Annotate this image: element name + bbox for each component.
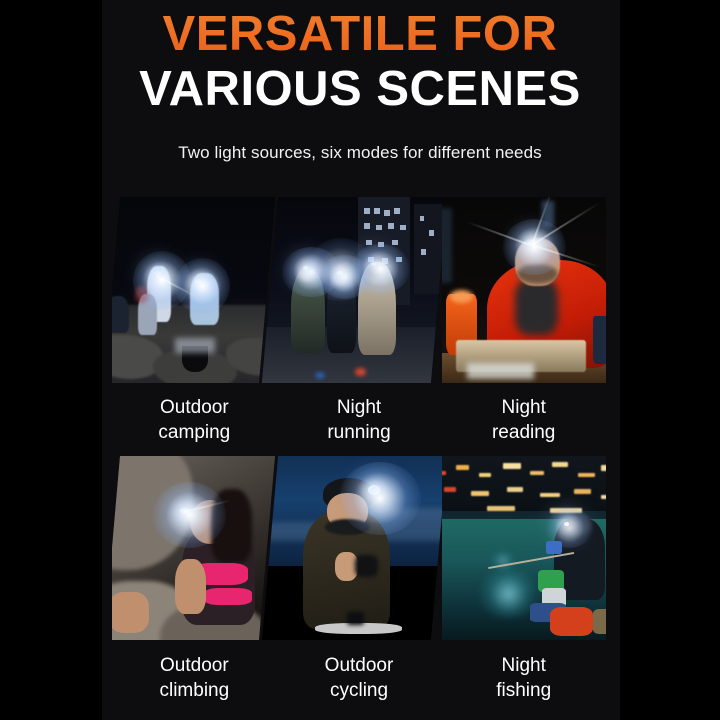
caption-line-1: Night — [502, 655, 546, 676]
caption-line-2: running — [277, 420, 442, 445]
caption-outdoor-climbing: Outdoor climbing — [112, 653, 277, 703]
scene-image-outdoor-climbing — [112, 456, 275, 640]
scene-image-night-reading — [442, 197, 606, 383]
headline-primary: VERSATILE FOR — [0, 0, 720, 59]
caption-line-1: Night — [502, 397, 546, 418]
caption-line-2: reading — [441, 420, 606, 445]
caption-line-2: climbing — [112, 678, 277, 703]
scene-tile-outdoor-cycling[interactable] — [262, 456, 447, 640]
caption-outdoor-camping: Outdoor camping — [112, 395, 277, 445]
caption-line-1: Outdoor — [160, 655, 229, 676]
scene-image-night-fishing — [442, 456, 606, 640]
caption-line-2: cycling — [277, 678, 442, 703]
caption-night-fishing: Night fishing — [441, 653, 606, 703]
caption-night-reading: Night reading — [441, 395, 606, 445]
caption-outdoor-cycling: Outdoor cycling — [277, 653, 442, 703]
caption-line-2: fishing — [441, 678, 606, 703]
scene-tile-night-fishing[interactable] — [442, 456, 606, 640]
caption-night-running: Night running — [277, 395, 442, 445]
caption-line-2: camping — [112, 420, 277, 445]
caption-line-1: Night — [337, 397, 381, 418]
promo-banner: VERSATILE FOR VARIOUS SCENES Two light s… — [0, 0, 720, 720]
scene-image-outdoor-cycling — [262, 456, 447, 640]
scene-row-top — [112, 197, 606, 383]
caption-line-1: Outdoor — [160, 397, 229, 418]
scene-row-bottom — [112, 456, 606, 640]
scene-tile-outdoor-camping[interactable] — [112, 197, 275, 383]
caption-line-1: Outdoor — [325, 655, 394, 676]
caption-row-top: Outdoor camping Night running Night read… — [112, 395, 606, 445]
scene-tile-outdoor-climbing[interactable] — [112, 456, 275, 640]
scene-tile-night-running[interactable] — [262, 197, 447, 383]
scene-image-night-running — [262, 197, 447, 383]
caption-row-bottom: Outdoor climbing Outdoor cycling Night f… — [112, 653, 606, 703]
scene-image-outdoor-camping — [112, 197, 275, 383]
subheadline: Two light sources, six modes for differe… — [0, 143, 720, 163]
scene-tile-night-reading[interactable] — [442, 197, 606, 383]
headline-secondary: VARIOUS SCENES — [0, 64, 720, 115]
header: VERSATILE FOR VARIOUS SCENES Two light s… — [0, 0, 720, 163]
